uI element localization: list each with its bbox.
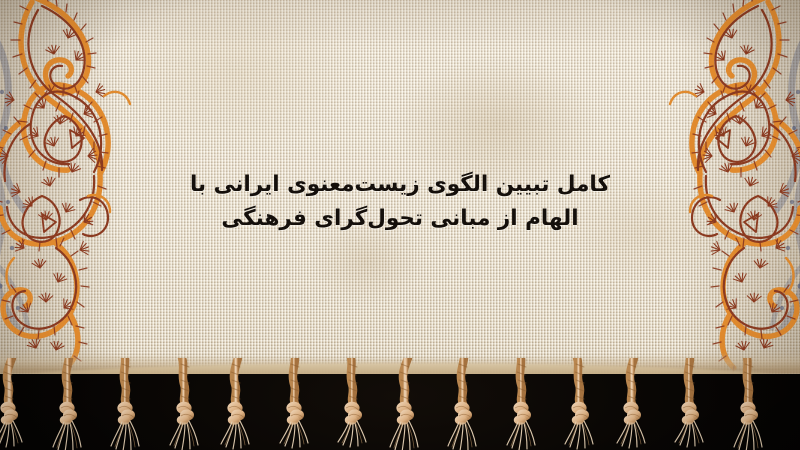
tassel [329,358,373,450]
tassel [216,358,260,450]
tassel [725,358,769,450]
tassel [47,358,91,450]
title-line-2: الهام از مبانی تحول‌گرای فرهنگی [0,202,800,236]
tassel [668,358,712,450]
tassel [499,358,543,450]
tassel [612,358,656,450]
tassel [442,358,486,450]
title-line-1: کامل تبیین الگوی زیست‌معنوی ایرانی با [0,168,800,202]
tassel [555,358,599,450]
tassel [160,358,204,450]
slide-title: کامل تبیین الگوی زیست‌معنوی ایرانی با ال… [0,168,800,236]
tassel-fringe [0,358,800,450]
slide-canvas: کامل تبیین الگوی زیست‌معنوی ایرانی با ال… [0,0,800,450]
tassel [386,358,430,450]
tassel [0,358,34,450]
tassel [103,358,147,450]
tassel [273,358,317,450]
